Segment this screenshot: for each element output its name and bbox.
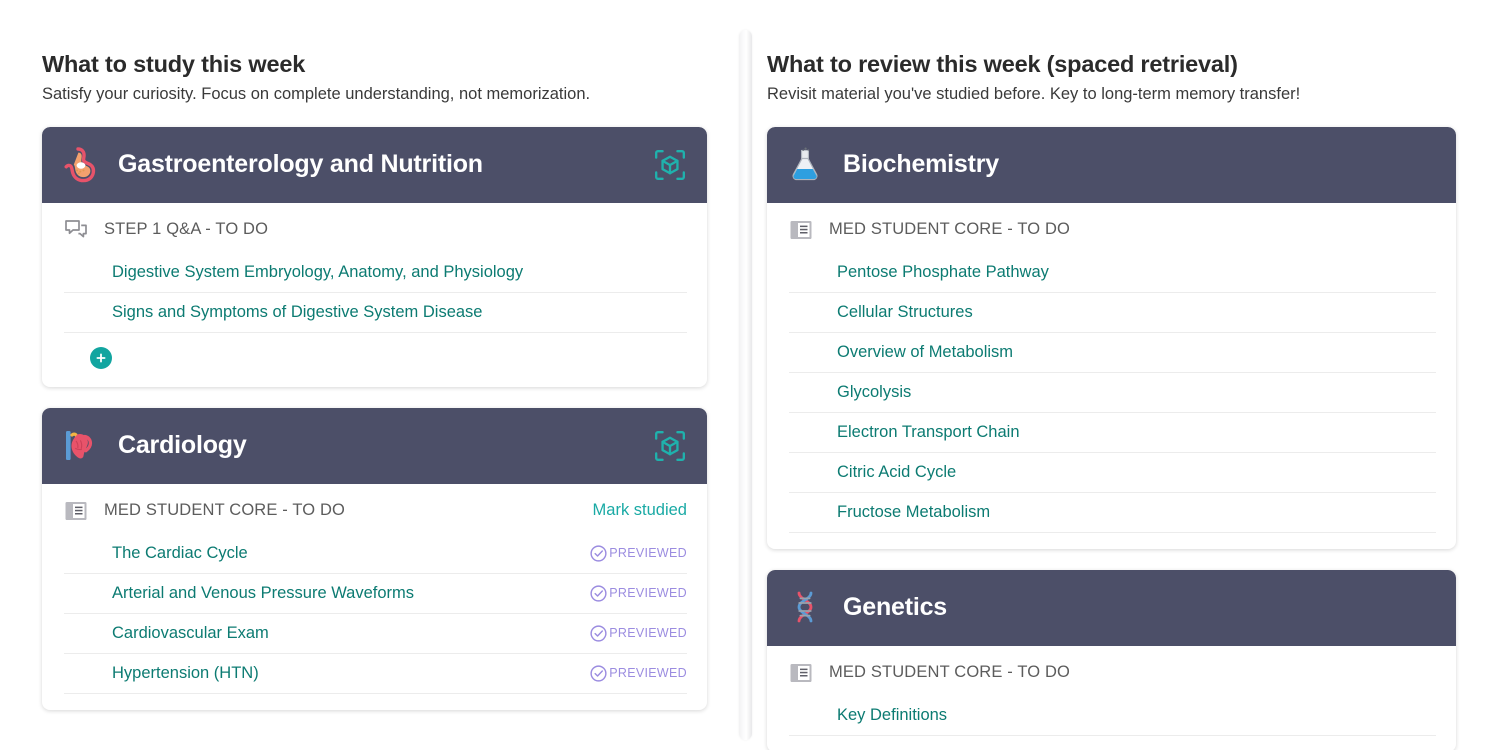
qa-bubbles-icon (64, 219, 88, 241)
book-article-icon (64, 500, 88, 522)
topic-group-label: MED STUDENT CORE - TO DO (829, 220, 1436, 239)
topic-link[interactable]: Overview of Metabolism (837, 343, 1436, 362)
topic-group-label: STEP 1 Q&A - TO DO (104, 220, 687, 239)
topic-link[interactable]: Glycolysis (837, 383, 1436, 402)
page-title-review: What to review this week (spaced retriev… (767, 50, 1456, 78)
subject-title: Genetics (843, 593, 1436, 622)
page-subtitle-study: Satisfy your curiosity. Focus on complet… (42, 84, 707, 105)
topic-group-header: MED STUDENT CORE - TO DO (767, 646, 1456, 696)
3d-cube-scan-icon[interactable] (653, 148, 687, 182)
add-topic-button[interactable] (90, 347, 112, 369)
topic-row[interactable]: Signs and Symptoms of Digestive System D… (64, 293, 687, 333)
topic-link[interactable]: Hypertension (HTN) (112, 664, 589, 683)
topic-link[interactable]: Citric Acid Cycle (837, 463, 1436, 482)
topic-group-label: MED STUDENT CORE - TO DO (104, 501, 593, 520)
subject-card-header[interactable]: Biochemistry (767, 127, 1456, 203)
topic-row[interactable]: Fructose Metabolism (789, 493, 1436, 533)
topic-link[interactable]: Cardiovascular Exam (112, 624, 589, 643)
review-card-list: Biochemistry MED STUDENT CORE - TO DO Pe… (767, 127, 1456, 750)
topic-row[interactable]: Citric Acid Cycle (789, 453, 1436, 493)
topic-row[interactable]: Arterial and Venous Pressure Waveforms P… (64, 574, 687, 614)
topic-row[interactable]: Hypertension (HTN) PREVIEWED (64, 654, 687, 694)
study-planner-page: What to study this week Satisfy your cur… (0, 0, 1500, 750)
status-badge: PREVIEWED (589, 624, 687, 643)
topic-row[interactable]: Overview of Metabolism (789, 333, 1436, 373)
subject-title: Biochemistry (843, 150, 1436, 179)
previewed-check-icon (589, 584, 608, 603)
subject-card: Biochemistry MED STUDENT CORE - TO DO Pe… (767, 127, 1456, 549)
subject-card-header[interactable]: Genetics (767, 570, 1456, 646)
subject-card: Genetics MED STUDENT CORE - TO DO Key De… (767, 570, 1456, 750)
topic-group-header: MED STUDENT CORE - TO DOMark studied (42, 484, 707, 534)
status-badge: PREVIEWED (589, 584, 687, 603)
topic-link[interactable]: Signs and Symptoms of Digestive System D… (112, 303, 687, 322)
topic-link[interactable]: Cellular Structures (837, 303, 1436, 322)
subject-title: Cardiology (118, 431, 653, 460)
status-badge-label: PREVIEWED (609, 546, 687, 560)
topic-row[interactable]: Pentose Phosphate Pathway (789, 253, 1436, 293)
subject-card-body: MED STUDENT CORE - TO DO Key Definitions (767, 646, 1456, 750)
anatomical-heart-icon (60, 426, 100, 466)
subject-card: Gastroenterology and Nutrition STEP 1 Q&… (42, 127, 707, 387)
add-topic-row (42, 333, 707, 371)
topic-group-header: MED STUDENT CORE - TO DO (767, 203, 1456, 253)
topic-link[interactable]: Electron Transport Chain (837, 423, 1436, 442)
topic-row[interactable]: Electron Transport Chain (789, 413, 1436, 453)
topic-link[interactable]: Digestive System Embryology, Anatomy, an… (112, 263, 687, 282)
status-badge-label: PREVIEWED (609, 626, 687, 640)
topic-row[interactable]: Key Definitions (789, 696, 1436, 736)
status-badge-label: PREVIEWED (609, 586, 687, 600)
review-this-week-column: What to review this week (spaced retriev… (725, 0, 1500, 750)
topic-group-label: MED STUDENT CORE - TO DO (829, 663, 1436, 682)
page-title-study: What to study this week (42, 50, 707, 78)
subject-card-header[interactable]: Cardiology (42, 408, 707, 484)
subject-card-body: MED STUDENT CORE - TO DOMark studied The… (42, 484, 707, 710)
subject-card-body: MED STUDENT CORE - TO DO Pentose Phospha… (767, 203, 1456, 549)
topic-row[interactable]: The Cardiac Cycle PREVIEWED (64, 534, 687, 574)
dna-icon (785, 588, 825, 628)
status-badge: PREVIEWED (589, 544, 687, 563)
status-badge-label: PREVIEWED (609, 666, 687, 680)
topic-link[interactable]: The Cardiac Cycle (112, 544, 589, 563)
previewed-check-icon (589, 544, 608, 563)
3d-cube-scan-icon[interactable] (653, 429, 687, 463)
book-article-icon (789, 662, 813, 684)
topic-row[interactable]: Glycolysis (789, 373, 1436, 413)
previewed-check-icon (589, 624, 608, 643)
mark-studied-link[interactable]: Mark studied (593, 501, 687, 520)
book-article-icon (789, 219, 813, 241)
topic-link[interactable]: Fructose Metabolism (837, 503, 1436, 522)
topic-group-header: STEP 1 Q&A - TO DO (42, 203, 707, 253)
topic-row[interactable]: Cardiovascular Exam PREVIEWED (64, 614, 687, 654)
topic-link[interactable]: Key Definitions (837, 706, 1436, 725)
topic-link[interactable]: Arterial and Venous Pressure Waveforms (112, 584, 589, 603)
subject-title: Gastroenterology and Nutrition (118, 150, 653, 179)
subject-card-body: STEP 1 Q&A - TO DO Digestive System Embr… (42, 203, 707, 387)
topic-link[interactable]: Pentose Phosphate Pathway (837, 263, 1436, 282)
page-subtitle-review: Revisit material you've studied before. … (767, 84, 1456, 105)
study-this-week-column: What to study this week Satisfy your cur… (0, 0, 725, 750)
topic-row[interactable]: Cellular Structures (789, 293, 1436, 333)
previewed-check-icon (589, 664, 608, 683)
subject-card: Cardiology MED STUDENT CORE - TO DOMark … (42, 408, 707, 710)
topic-row[interactable]: Digestive System Embryology, Anatomy, an… (64, 253, 687, 293)
status-badge: PREVIEWED (589, 664, 687, 683)
stomach-icon (60, 145, 100, 185)
study-card-list: Gastroenterology and Nutrition STEP 1 Q&… (42, 127, 707, 710)
flask-icon (785, 145, 825, 185)
subject-card-header[interactable]: Gastroenterology and Nutrition (42, 127, 707, 203)
